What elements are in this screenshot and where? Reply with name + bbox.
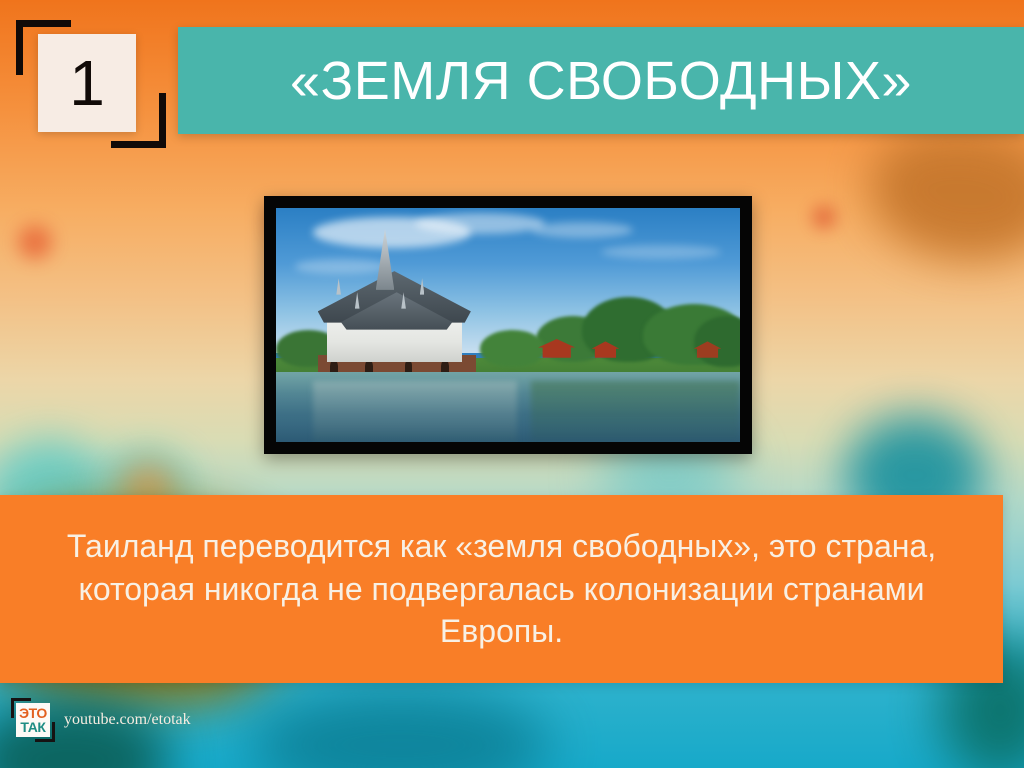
photo-tree xyxy=(480,330,545,367)
background-blob xyxy=(812,205,836,229)
slide-number-badge: 1 xyxy=(16,20,166,148)
slide-number-text: 1 xyxy=(69,51,105,115)
etotak-logo-icon: ЭТО ТАК xyxy=(11,698,55,742)
photo-reflection xyxy=(313,381,517,442)
watermark-url: youtube.com/etotak xyxy=(64,711,191,729)
photo-frame xyxy=(264,196,752,454)
logo-box: ЭТО ТАК xyxy=(16,703,50,737)
background-blob xyxy=(18,225,52,259)
slide-number-box: 1 xyxy=(38,34,136,132)
caption-band: Таиланд переводится как «земля свободных… xyxy=(0,495,1003,683)
logo-line-1: ЭТО xyxy=(19,706,47,720)
photo-cloud xyxy=(415,213,545,234)
caption-text: Таиланд переводится как «земля свободных… xyxy=(0,525,1003,653)
slide-root: 1 «ЗЕМЛЯ СВОБОДНЫХ» xyxy=(0,0,1024,768)
thai-temple-photo xyxy=(276,208,740,442)
photo-reflection xyxy=(531,381,740,442)
title-band: «ЗЕМЛЯ СВОБОДНЫХ» xyxy=(178,27,1024,134)
photo-cloud xyxy=(295,259,388,273)
slide-title: «ЗЕМЛЯ СВОБОДНЫХ» xyxy=(290,50,912,112)
watermark: ЭТО ТАК youtube.com/etotak xyxy=(11,698,191,742)
logo-line-2: ТАК xyxy=(20,720,45,734)
